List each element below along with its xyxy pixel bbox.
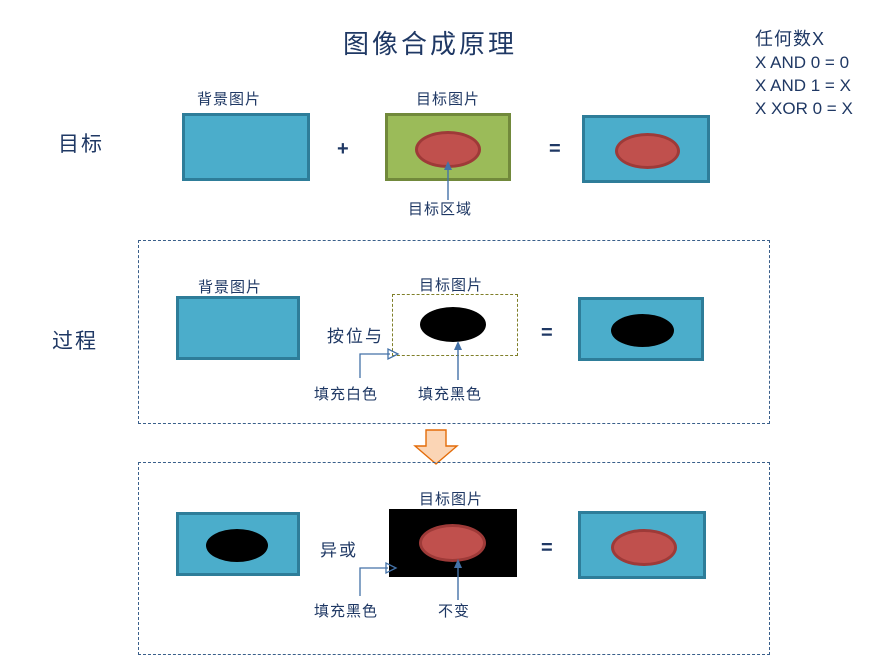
rule-and-zero: X AND 0 = 0 (755, 51, 853, 74)
boolean-rules-block: 任何数X X AND 0 = 0 X AND 1 = X X XOR 0 = X (755, 28, 853, 120)
xor-unchanged-arrow-icon (430, 558, 490, 602)
goal-target-area-arrow-icon (420, 160, 480, 202)
and-fill-white-arrow-icon (330, 338, 400, 380)
rule-any-number: 任何数X (755, 28, 853, 51)
goal-plus-operator: + (337, 138, 349, 161)
rule-and-one: X AND 1 = X (755, 74, 853, 97)
and-background-image (176, 296, 300, 360)
and-fill-black-note: 填充黑色 (418, 383, 482, 404)
xor-equals-operator: = (541, 537, 553, 560)
goal-result-image (582, 115, 710, 183)
and-result-ellipse (611, 314, 674, 347)
flow-down-arrow-icon (412, 428, 460, 466)
goal-target-area-note: 目标区域 (408, 198, 472, 219)
xor-unchanged-note: 不变 (438, 600, 470, 621)
xor-result-image (578, 511, 706, 579)
xor-fill-black-arrow-icon (330, 556, 400, 598)
and-equals-operator: = (541, 322, 553, 345)
and-target-ellipse (420, 307, 486, 342)
goal-background-image (182, 113, 310, 181)
and-fill-white-note: 填充白色 (314, 383, 378, 404)
xor-result-ellipse (611, 529, 677, 566)
xor-target-ellipse (419, 524, 486, 562)
xor-fill-black-note: 填充黑色 (314, 600, 378, 621)
goal-background-caption: 背景图片 (197, 88, 261, 109)
page-title: 图像合成原理 (240, 24, 620, 61)
row-label-process: 过程 (52, 325, 98, 355)
xor-target-caption: 目标图片 (419, 488, 483, 509)
xor-background-ellipse (206, 529, 268, 562)
and-target-caption: 目标图片 (419, 274, 483, 295)
and-result-image (578, 297, 704, 361)
rule-xor-zero: X XOR 0 = X (755, 97, 853, 120)
and-fill-black-arrow-icon (430, 340, 490, 382)
and-background-caption: 背景图片 (198, 276, 262, 297)
goal-target-caption: 目标图片 (416, 88, 480, 109)
goal-equals-operator: = (549, 138, 561, 161)
row-label-goal: 目标 (58, 128, 104, 158)
xor-background-image (176, 512, 300, 576)
goal-result-ellipse (615, 133, 680, 169)
